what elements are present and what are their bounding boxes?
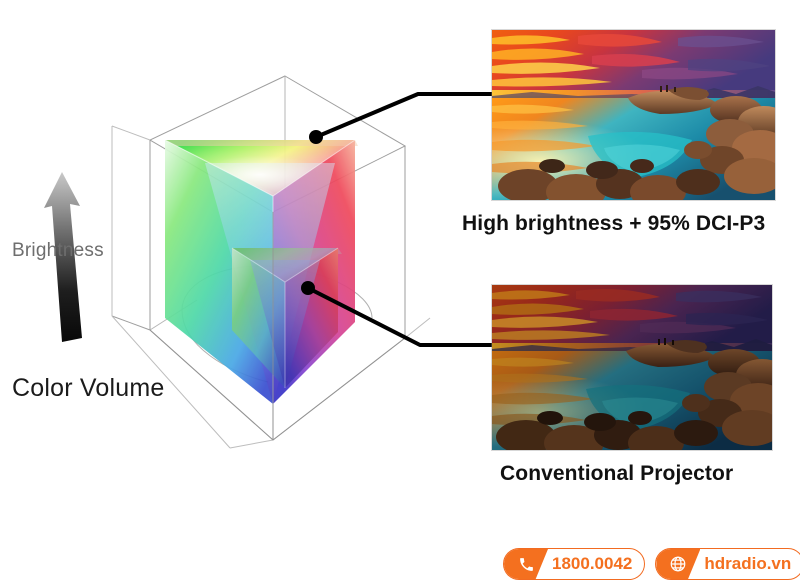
page-canvas: Brightness Color Volume	[0, 0, 800, 580]
phone-number: 1800.0042	[548, 554, 632, 574]
contact-bar: 1800.0042 hdradio.vn	[503, 548, 800, 580]
brightness-label: Brightness	[12, 240, 104, 262]
sunset-lake-vivid-image	[492, 30, 775, 200]
website-badge[interactable]: hdradio.vn	[655, 548, 800, 580]
globe-icon	[656, 549, 700, 579]
color-volume-label: Color Volume	[12, 374, 164, 403]
caption-conventional: Conventional Projector	[500, 462, 733, 486]
phone-badge[interactable]: 1800.0042	[503, 548, 645, 580]
callout-line-high-brightness	[309, 94, 492, 144]
caption-high-brightness: High brightness + 95% DCI-P3	[462, 212, 765, 236]
website-url: hdradio.vn	[700, 554, 791, 574]
sunset-lake-dull-image	[492, 285, 772, 450]
phone-icon	[504, 549, 548, 579]
